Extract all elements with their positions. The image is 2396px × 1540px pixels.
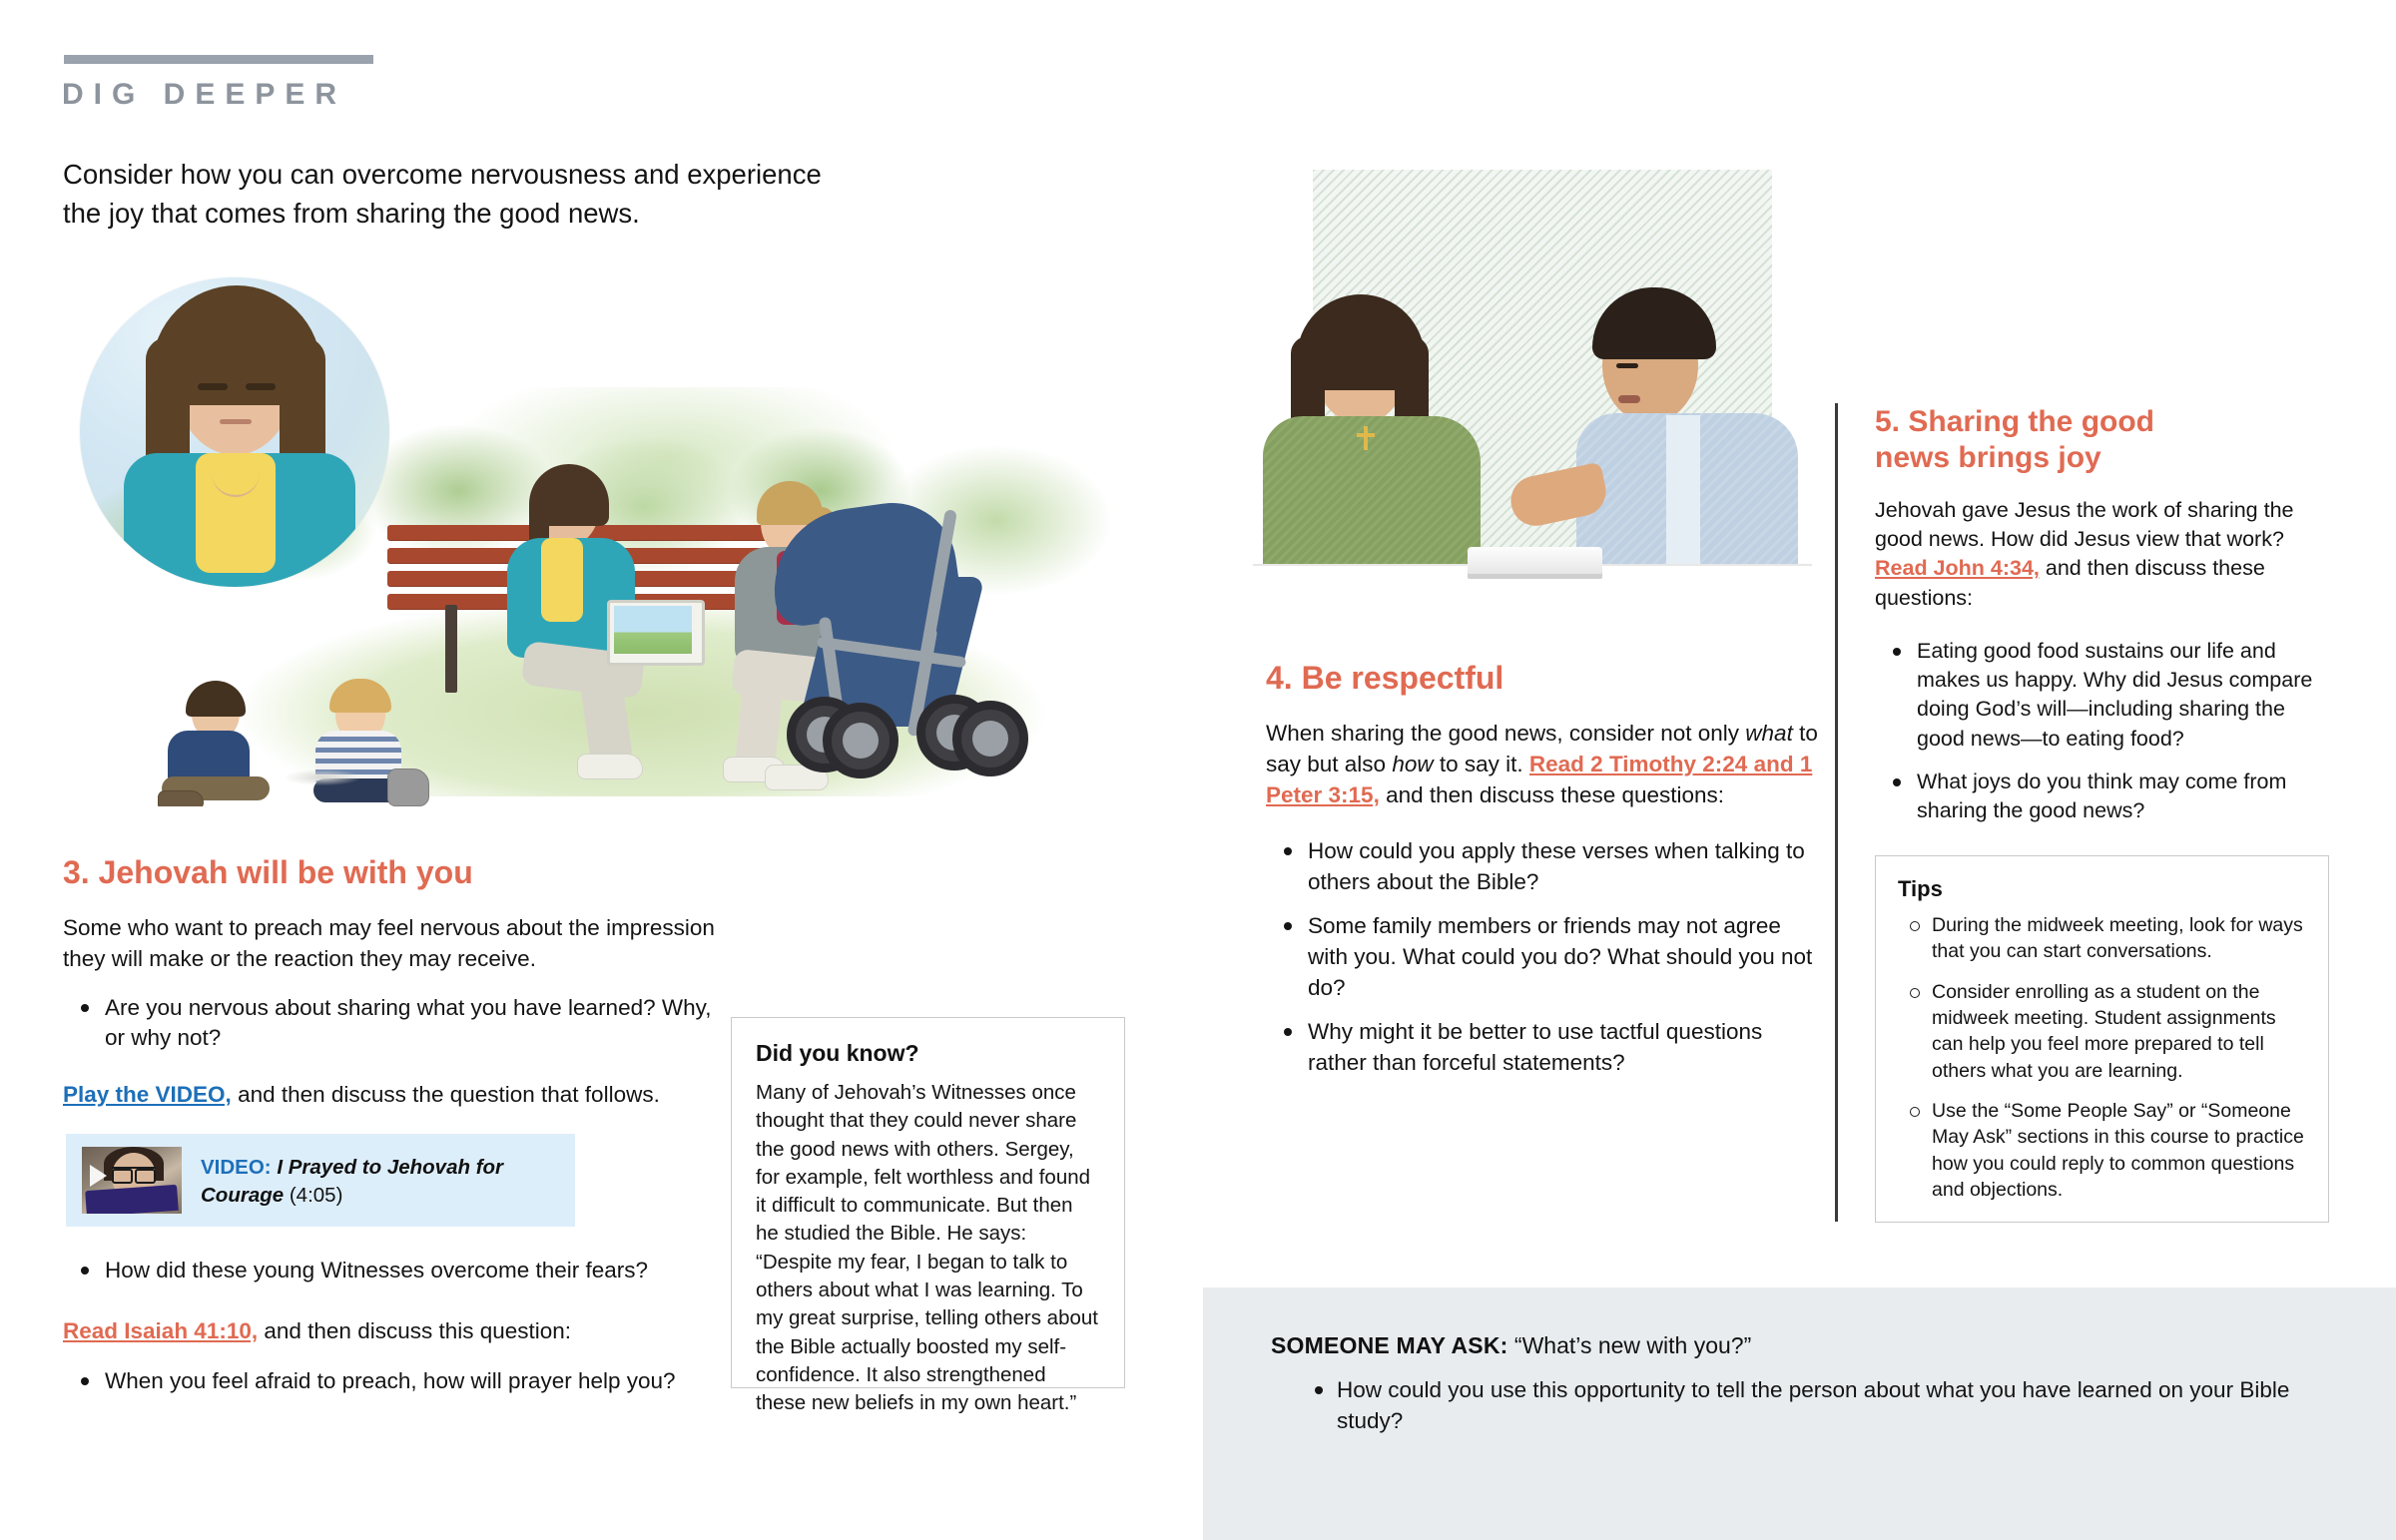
list-item: Use the “Some People Say” or “Someone Ma… [1932,1098,2306,1203]
section-5-question-list: Eating good food sustains our life and m… [1875,637,2329,825]
play-icon[interactable] [90,1165,107,1187]
section-3-video-lead: Play the VIDEO, and then discuss the que… [63,1080,722,1111]
section-4-para-1: When sharing the good news, consider not… [1266,721,1745,746]
did-you-know-heading: Did you know? [756,1040,1100,1067]
video-thumbnail[interactable] [82,1147,182,1214]
section-3-read-rest: and then discuss this question: [258,1318,571,1343]
list-item: Consider enrolling as a student on the m… [1932,979,2306,1084]
woman-listening [1263,294,1493,594]
section-4-para-4: and then discuss these questions: [1380,782,1724,807]
video-label: VIDEO: [201,1156,272,1179]
section-5: 5. Sharing the goodnews brings joy Jehov… [1875,404,2329,839]
section-4-paragraph: When sharing the good news, consider not… [1266,719,1825,810]
someone-may-ask-question-list: How could you use this opportunity to te… [1303,1375,2355,1436]
section-5-paragraph: Jehovah gave Jesus the work of sharing t… [1875,496,2329,613]
read-isaiah-link[interactable]: Read Isaiah 41:10, [63,1318,258,1343]
list-item: How did these young Witnesses overcome t… [105,1256,722,1286]
someone-may-ask-quote: “What’s new with you?” [1514,1332,1751,1358]
section-5-para-1: Jehovah gave Jesus the work of sharing t… [1875,498,2294,551]
list-item: What joys do you think may come from sha… [1917,768,2329,825]
video-duration: (4:05) [290,1184,343,1207]
glasses-icon [112,1167,156,1180]
column-divider [1835,403,1838,1222]
section-3-paragraph: Some who want to preach may feel nervous… [63,913,722,974]
play-video-link[interactable]: Play the VIDEO, [63,1082,232,1107]
intro-paragraph: Consider how you can overcome nervousnes… [63,155,862,233]
section-4-question-list: How could you apply these verses when ta… [1266,836,1825,1078]
someone-may-ask-label: SOMEONE MAY ASK: [1271,1332,1508,1358]
dig-deeper-title: DIG DEEPER [62,78,346,112]
section-3-read-lead: Read Isaiah 41:10, and then discuss this… [63,1316,722,1347]
section-5-heading-line1: 5. Sharing the good [1875,405,2154,438]
list-item: Why might it be better to use tactful qu… [1308,1017,1825,1078]
section-4-em-what: what [1745,721,1793,746]
dig-deeper-rule [64,55,373,64]
someone-may-ask-title: SOMEONE MAY ASK: “What’s new with you?” [1271,1332,1751,1359]
section-5-heading: 5. Sharing the goodnews brings joy [1875,404,2329,476]
tips-heading: Tips [1898,876,2306,902]
pebbles [268,765,377,790]
section-3-post-video-questions: How did these young Witnesses overcome t… [63,1256,722,1286]
section-4-heading: 4. Be respectful [1266,659,1825,697]
list-item: During the midweek meeting, look for way… [1932,912,2306,965]
video-callout[interactable]: VIDEO: I Prayed to Jehovah for Courage (… [66,1134,575,1227]
couple-illustration [1253,170,1812,629]
list-item: Are you nervous about sharing what you h… [105,993,722,1054]
section-3-video-lead-rest: and then discuss the question that follo… [232,1082,660,1107]
inset-circle-nervous-woman [80,277,389,587]
woman-with-tablet [477,472,667,771]
stroller [757,497,1046,776]
necklace-cross-icon [1355,426,1377,450]
someone-may-ask-panel: SOMEONE MAY ASK: “What’s new with you?” … [1203,1287,2396,1540]
page-root: DIG DEEPER Consider how you can overcome… [0,0,2396,1540]
section-3-post-read-questions: When you feel afraid to preach, how will… [63,1366,722,1397]
did-you-know-body: Many of Jehovah’s Witnesses once thought… [756,1079,1100,1417]
list-item: Eating good food sustains our life and m… [1917,637,2329,754]
list-item: When you feel afraid to preach, how will… [105,1366,722,1397]
section-3: 3. Jehovah will be with you Some who wan… [63,853,722,1110]
list-item: Some family members or friends may not a… [1308,911,1825,1003]
section-3-question-list: Are you nervous about sharing what you h… [63,993,722,1054]
list-item: How could you use this opportunity to te… [1337,1375,2355,1436]
did-you-know-box: Did you know? Many of Jehovah’s Witnesse… [731,1017,1125,1388]
thumbnail-book [85,1185,179,1214]
list-item: How could you apply these verses when ta… [1308,836,1825,897]
section-3-continued: How did these young Witnesses overcome t… [63,1256,722,1411]
section-4-em-how: how [1392,752,1433,776]
video-caption: VIDEO: I Prayed to Jehovah for Courage (… [201,1154,550,1209]
section-4: 4. Be respectful When sharing the good n… [1266,659,1825,1092]
tips-list: During the midweek meeting, look for way… [1898,912,2306,1203]
section-3-heading: 3. Jehovah will be with you [63,853,722,891]
section-4-para-3: to say it. [1434,752,1529,776]
park-illustration [58,267,1186,806]
section-5-heading-line2: news brings joy [1875,441,2101,474]
read-john-link[interactable]: Read John 4:34, [1875,556,2040,580]
open-bible [1468,547,1602,579]
tips-box: Tips During the midweek meeting, look fo… [1875,855,2329,1223]
